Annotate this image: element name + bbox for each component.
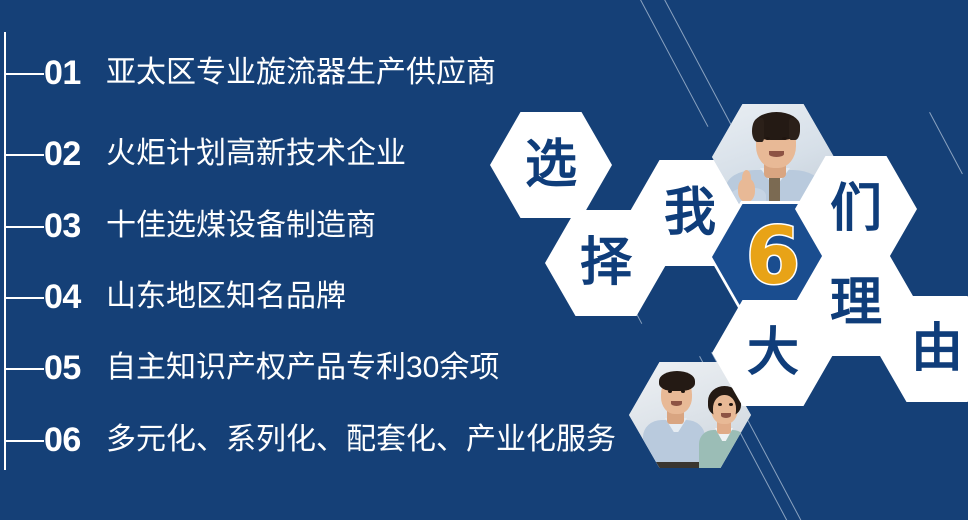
reasons-list: 01 亚太区专业旋流器生产供应商 02 火炬计划高新技术企业 03 十佳选煤设备… (0, 0, 600, 520)
reason-item-2[interactable]: 02 火炬计划高新技术企业 (44, 131, 406, 177)
decor-diagonal-1 (659, 0, 740, 141)
reason-item-6[interactable]: 06 多元化、系列化、配套化、产业化服务 (44, 417, 616, 463)
hex-glyph: 们 (830, 183, 882, 235)
reason-item-5[interactable]: 05 自主知识产权产品专利30余项 (44, 345, 499, 391)
reason-text: 山东地区知名品牌 (106, 282, 346, 312)
reason-number: 03 (44, 209, 104, 243)
reason-item-4[interactable]: 04 山东地区知名品牌 (44, 274, 346, 320)
reason-number: 02 (44, 137, 104, 171)
hex-glyph: 我 (664, 187, 716, 239)
reason-item-1[interactable]: 01 亚太区专业旋流器生产供应商 (44, 50, 496, 96)
hex-glyph: 由 (911, 323, 963, 375)
reason-number: 06 (44, 423, 104, 457)
reason-number: 01 (44, 56, 104, 90)
hex-glyph: 择 (580, 237, 632, 289)
hex-glyph: 大 (747, 327, 799, 379)
reason-item-3[interactable]: 03 十佳选煤设备制造商 (44, 203, 376, 249)
reason-text: 十佳选煤设备制造商 (106, 211, 376, 241)
decor-diagonal-3 (929, 112, 963, 174)
hex-glyph: 选 (525, 139, 577, 191)
hex-glyph-number: 6 (746, 218, 800, 296)
reason-text: 亚太区专业旋流器生产供应商 (106, 58, 496, 88)
banner-canvas: 01 亚太区专业旋流器生产供应商 02 火炬计划高新技术企业 03 十佳选煤设备… (0, 0, 968, 520)
reason-number: 05 (44, 351, 104, 385)
reason-number: 04 (44, 280, 104, 314)
reason-text: 火炬计划高新技术企业 (106, 139, 406, 169)
hex-glyph: 理 (830, 277, 882, 329)
reason-text: 多元化、系列化、配套化、产业化服务 (106, 425, 616, 455)
reason-text: 自主知识产权产品专利30余项 (106, 353, 499, 383)
